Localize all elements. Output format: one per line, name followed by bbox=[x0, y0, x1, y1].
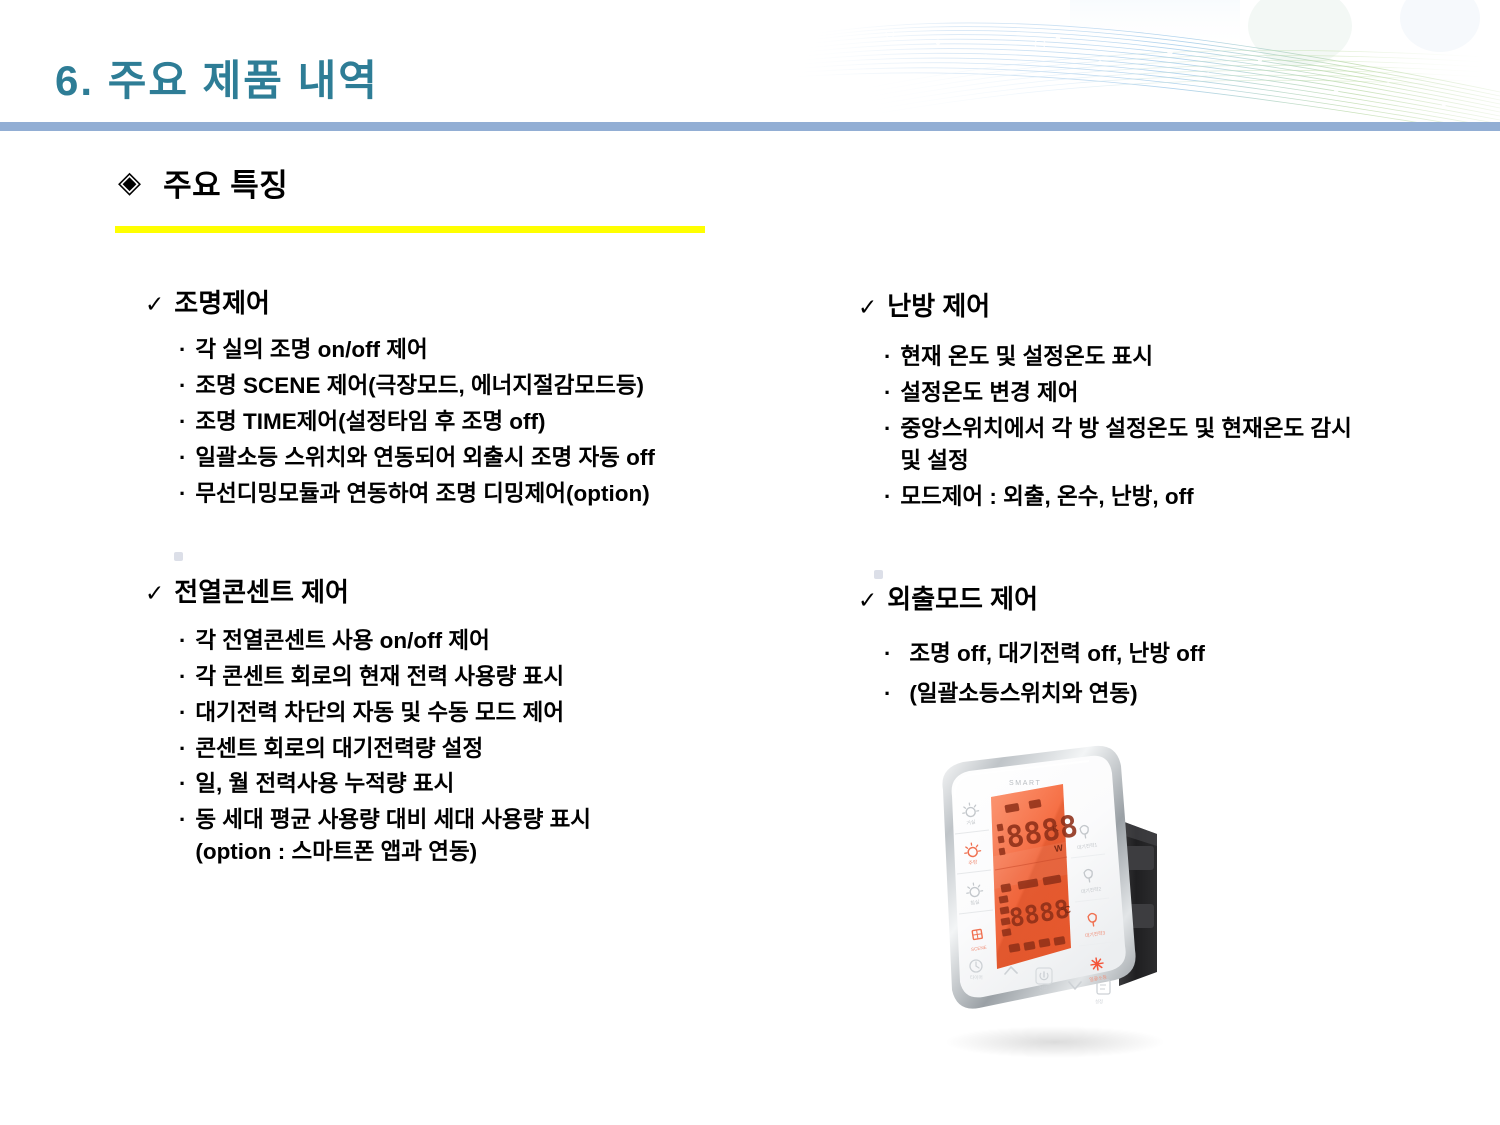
list-item: · 각 콘센트 회로의 현재 전력 사용량 표시 bbox=[179, 661, 785, 693]
group-title-label: 외출모드 제어 bbox=[887, 579, 1038, 616]
list-item-label: 조명 TIME제어(설정타임 후 조명 off) bbox=[195, 406, 545, 438]
list-item-label: 일, 월 전력사용 누적량 표시 bbox=[195, 768, 454, 800]
slide-root: 6. 주요 제품 내역 ◈ 주요 특징 ✓ 조명제어 · 각 실의 조명 on/… bbox=[0, 0, 1500, 1125]
list-item: · 모드제어 : 외출, 온수, 난방, off bbox=[884, 481, 1498, 513]
list-item: · 무선디밍모듈과 연동하여 조명 디밍제어(option) bbox=[179, 478, 785, 510]
bullet-list: · 현재 온도 및 설정온도 표시 · 설정온도 변경 제어 · 중앙스위치에서… bbox=[858, 341, 1498, 513]
group-title-label: 전열콘센트 제어 bbox=[174, 572, 349, 609]
group-title-label: 조명제어 bbox=[174, 283, 270, 320]
header-decorative-wave bbox=[740, 0, 1500, 122]
bullet-dot-icon: · bbox=[179, 478, 186, 509]
feature-group-heating: ✓ 난방 제어 · 현재 온도 및 설정온도 표시 · 설정온도 변경 제어 ·… bbox=[858, 286, 1498, 513]
list-item: · 일, 월 전력사용 누적량 표시 bbox=[179, 768, 785, 800]
list-item-label: 콘센트 회로의 대기전력량 설정 bbox=[195, 733, 483, 765]
bullet-dot-icon: · bbox=[179, 733, 186, 764]
features-heading-label: 주요 특징 bbox=[163, 160, 288, 205]
svg-text:타이머: 타이머 bbox=[970, 974, 983, 981]
memo-button: 설정 bbox=[1095, 980, 1110, 1004]
bullet-dot-icon: · bbox=[179, 697, 186, 728]
feature-group-outlet: ✓ 전열콘센트 제어 · 각 전열콘센트 사용 on/off 제어 · 각 콘센… bbox=[145, 572, 785, 869]
list-item: · 설정온도 변경 제어 bbox=[884, 377, 1498, 409]
bullet-dot-icon: · bbox=[884, 638, 891, 669]
bullet-dot-icon: · bbox=[884, 341, 891, 372]
list-item-label: 현재 온도 및 설정온도 표시 bbox=[900, 341, 1153, 373]
bullet-dot-icon: · bbox=[179, 768, 186, 799]
device-brand-label: SMART bbox=[1009, 780, 1041, 787]
list-item: · 일괄소등 스위치와 연동되어 외출시 조명 자동 off bbox=[179, 442, 785, 474]
list-item-label: 각 실의 조명 on/off 제어 bbox=[195, 334, 427, 366]
bullet-list: · 각 전열콘센트 사용 on/off 제어 · 각 콘센트 회로의 현재 전력… bbox=[145, 625, 785, 869]
list-item-label: 무선디밍모듈과 연동하여 조명 디밍제어(option) bbox=[195, 478, 649, 510]
bullet-dot-icon: · bbox=[884, 413, 891, 444]
bullet-dot-icon: · bbox=[179, 804, 186, 835]
list-item: · 조명 TIME제어(설정타임 후 조명 off) bbox=[179, 406, 785, 438]
bullet-list: · 각 실의 조명 on/off 제어 · 조명 SCENE 제어(극장모드, … bbox=[145, 334, 785, 510]
bullet-dot-icon: · bbox=[179, 625, 186, 656]
bullet-dot-icon: · bbox=[179, 406, 186, 437]
list-item-label: 조명 SCENE 제어(극장모드, 에너지절감모드등) bbox=[195, 370, 644, 402]
bullet-dot-icon: · bbox=[179, 661, 186, 692]
feature-group-lighting: ✓ 조명제어 · 각 실의 조명 on/off 제어 · 조명 SCENE 제어… bbox=[145, 283, 785, 510]
lcd-temp-unit: ℃ bbox=[1060, 904, 1072, 916]
check-icon: ✓ bbox=[858, 587, 877, 614]
features-underline bbox=[115, 226, 705, 233]
check-icon: ✓ bbox=[145, 291, 164, 318]
bullet-dot-icon: · bbox=[884, 678, 891, 709]
list-item: · (일괄소등스위치와 연동) bbox=[884, 678, 1498, 710]
list-item-label: 대기전력 차단의 자동 및 수동 모드 제어 bbox=[195, 697, 564, 729]
page-title: 6. 주요 제품 내역 bbox=[55, 47, 379, 108]
group-title: ✓ 난방 제어 bbox=[858, 286, 1498, 323]
list-item-label: 중앙스위치에서 각 방 설정온도 및 현재온도 감시 및 설정 bbox=[900, 413, 1352, 477]
svg-text:설정: 설정 bbox=[1095, 998, 1103, 1004]
slide-header: 6. 주요 제품 내역 bbox=[0, 0, 1500, 122]
check-icon: ✓ bbox=[145, 580, 164, 607]
list-item-label: 각 전열콘센트 사용 on/off 제어 bbox=[195, 625, 489, 657]
bullet-list: · 조명 off, 대기전력 off, 난방 off · (일괄소등스위치와 연… bbox=[858, 638, 1498, 710]
list-item-label: 조명 off, 대기전력 off, 난방 off bbox=[909, 638, 1205, 670]
group-title: ✓ 전열콘센트 제어 bbox=[145, 572, 785, 609]
list-item: · 각 실의 조명 on/off 제어 bbox=[179, 334, 785, 366]
list-item-label: 일괄소등 스위치와 연동되어 외출시 조명 자동 off bbox=[195, 442, 655, 474]
bullet-dot-icon: · bbox=[179, 370, 186, 401]
list-item: · 동 세대 평균 사용량 대비 세대 사용량 표시 (option : 스마트… bbox=[179, 804, 785, 868]
list-item-label: 각 콘센트 회로의 현재 전력 사용량 표시 bbox=[195, 661, 564, 693]
bullet-dot-icon: · bbox=[884, 481, 891, 512]
list-item-label: 동 세대 평균 사용량 대비 세대 사용량 표시 (option : 스마트폰 … bbox=[195, 804, 591, 868]
spacer-marker bbox=[174, 552, 183, 561]
left-column: ✓ 조명제어 · 각 실의 조명 on/off 제어 · 조명 SCENE 제어… bbox=[145, 283, 785, 872]
svg-text:전원: 전원 bbox=[1039, 985, 1047, 991]
group-title: ✓ 조명제어 bbox=[145, 283, 785, 320]
group-title: ✓ 외출모드 제어 bbox=[858, 579, 1498, 616]
group-title-label: 난방 제어 bbox=[887, 286, 990, 323]
feature-group-away-mode: ✓ 외출모드 제어 · 조명 off, 대기전력 off, 난방 off · (… bbox=[858, 579, 1498, 710]
list-item: · 대기전력 차단의 자동 및 수동 모드 제어 bbox=[179, 697, 785, 729]
bullet-dot-icon: · bbox=[179, 334, 186, 365]
bullet-dot-icon: · bbox=[884, 377, 891, 408]
diamond-icon: ◈ bbox=[118, 168, 141, 198]
list-item: · 중앙스위치에서 각 방 설정온도 및 현재온도 감시 및 설정 bbox=[884, 413, 1498, 477]
list-item: · 조명 SCENE 제어(극장모드, 에너지절감모드등) bbox=[179, 370, 785, 402]
list-item: · 현재 온도 및 설정온도 표시 bbox=[884, 341, 1498, 373]
spacer-marker bbox=[874, 570, 883, 579]
list-item-label: (일괄소등스위치와 연동) bbox=[909, 678, 1137, 710]
right-column: ✓ 난방 제어 · 현재 온도 및 설정온도 표시 · 설정온도 변경 제어 ·… bbox=[858, 286, 1498, 718]
product-image-wallpad: SMART 8888 K W bbox=[905, 742, 1205, 1062]
bullet-dot-icon: · bbox=[179, 442, 186, 473]
check-icon: ✓ bbox=[858, 294, 877, 321]
header-divider bbox=[0, 122, 1500, 131]
lcd-temp-left: 88 bbox=[1007, 899, 1042, 933]
list-item: · 조명 off, 대기전력 off, 난방 off bbox=[884, 638, 1498, 670]
list-item: · 콘센트 회로의 대기전력량 설정 bbox=[179, 733, 785, 765]
features-heading: ◈ 주요 특징 bbox=[118, 160, 288, 205]
list-item-label: 설정온도 변경 제어 bbox=[900, 377, 1078, 409]
list-item: · 각 전열콘센트 사용 on/off 제어 bbox=[179, 625, 785, 657]
list-item-label: 모드제어 : 외출, 온수, 난방, off bbox=[900, 481, 1193, 513]
